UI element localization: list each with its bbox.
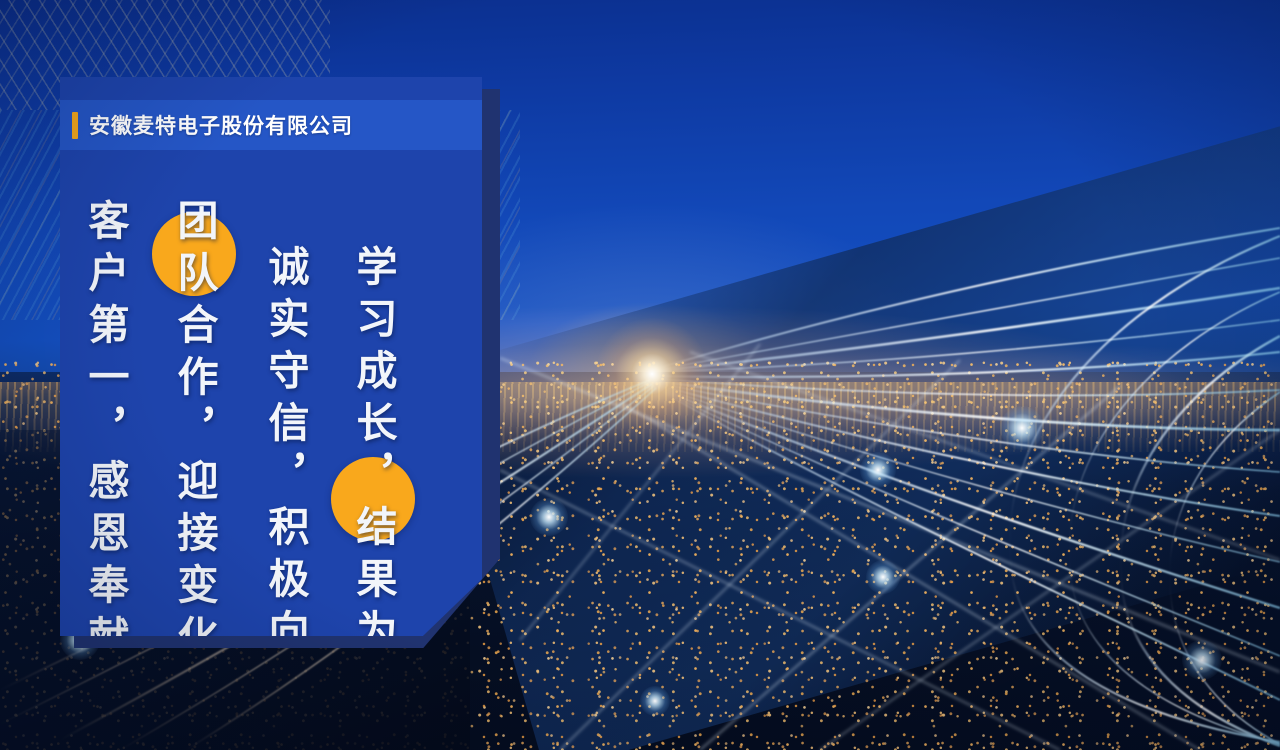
slogan-column-4: 学习成长，结果为王 (352, 245, 393, 625)
slogan-column-3: 诚实守信，积极向上 (264, 245, 305, 625)
company-slogan-panel: 安徽麦特电子股份有限公司 客户第一，感恩奉献 团队合作，迎接变化 诚实守信，积极… (60, 77, 482, 636)
slogan-columns: 客户第一，感恩奉献 团队合作，迎接变化 诚实守信，积极向上 学习成长，结果为王 (60, 77, 482, 636)
poster-canvas: 安徽麦特电子股份有限公司 客户第一，感恩奉献 团队合作，迎接变化 诚实守信，积极… (0, 0, 1280, 750)
slogan-column-1: 客户第一，感恩奉献 (84, 199, 125, 579)
slogan-column-2: 团队合作，迎接变化 (173, 199, 214, 579)
